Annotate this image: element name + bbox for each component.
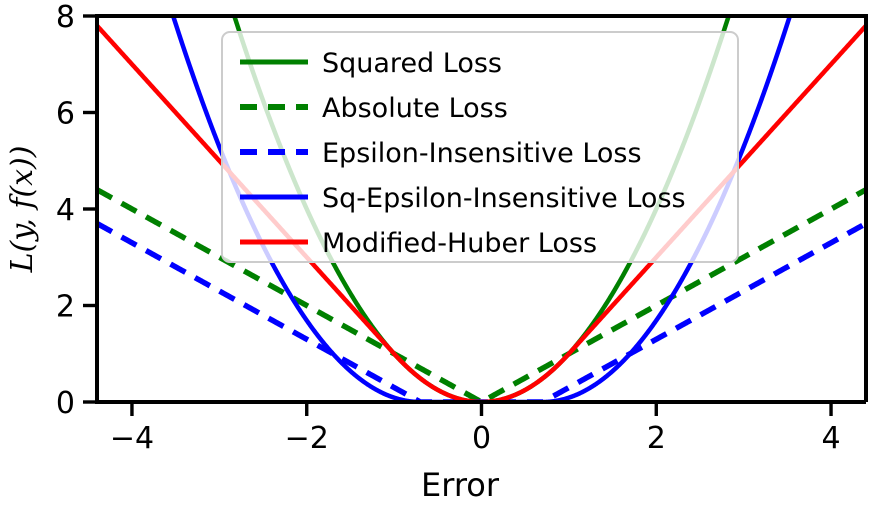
legend-label: Squared Loss	[322, 48, 502, 79]
x-tick-label: 2	[647, 421, 666, 456]
x-axis-ticks: −4−2024	[110, 404, 841, 456]
y-tick-label: 0	[56, 386, 75, 421]
y-axis-ticks: 02468	[56, 0, 95, 421]
x-axis-title: Error	[421, 466, 500, 504]
legend-label: Modified-Huber Loss	[322, 228, 597, 259]
y-tick-label: 6	[56, 97, 75, 132]
x-tick-label: −4	[110, 421, 154, 456]
legend-label: Epsilon-Insensitive Loss	[322, 138, 642, 169]
x-tick-label: −2	[285, 421, 329, 456]
y-tick-label: 8	[56, 0, 75, 35]
y-tick-label: 4	[56, 193, 75, 228]
x-tick-label: 0	[472, 421, 491, 456]
y-axis-title-text: L(y, f(x))	[5, 146, 40, 274]
legend-label: Sq-Epsilon-Insensitive Loss	[322, 183, 686, 214]
y-axis-title: L(y, f(x))	[5, 146, 40, 274]
chart-legend: Squared LossAbsolute LossEpsilon-Insensi…	[222, 32, 738, 262]
legend-label: Absolute Loss	[322, 93, 508, 124]
y-tick-label: 2	[56, 290, 75, 325]
loss-functions-chart: Squared LossAbsolute LossEpsilon-Insensi…	[0, 0, 878, 505]
x-tick-label: 4	[821, 421, 840, 456]
figure-canvas: Squared LossAbsolute LossEpsilon-Insensi…	[0, 0, 878, 505]
